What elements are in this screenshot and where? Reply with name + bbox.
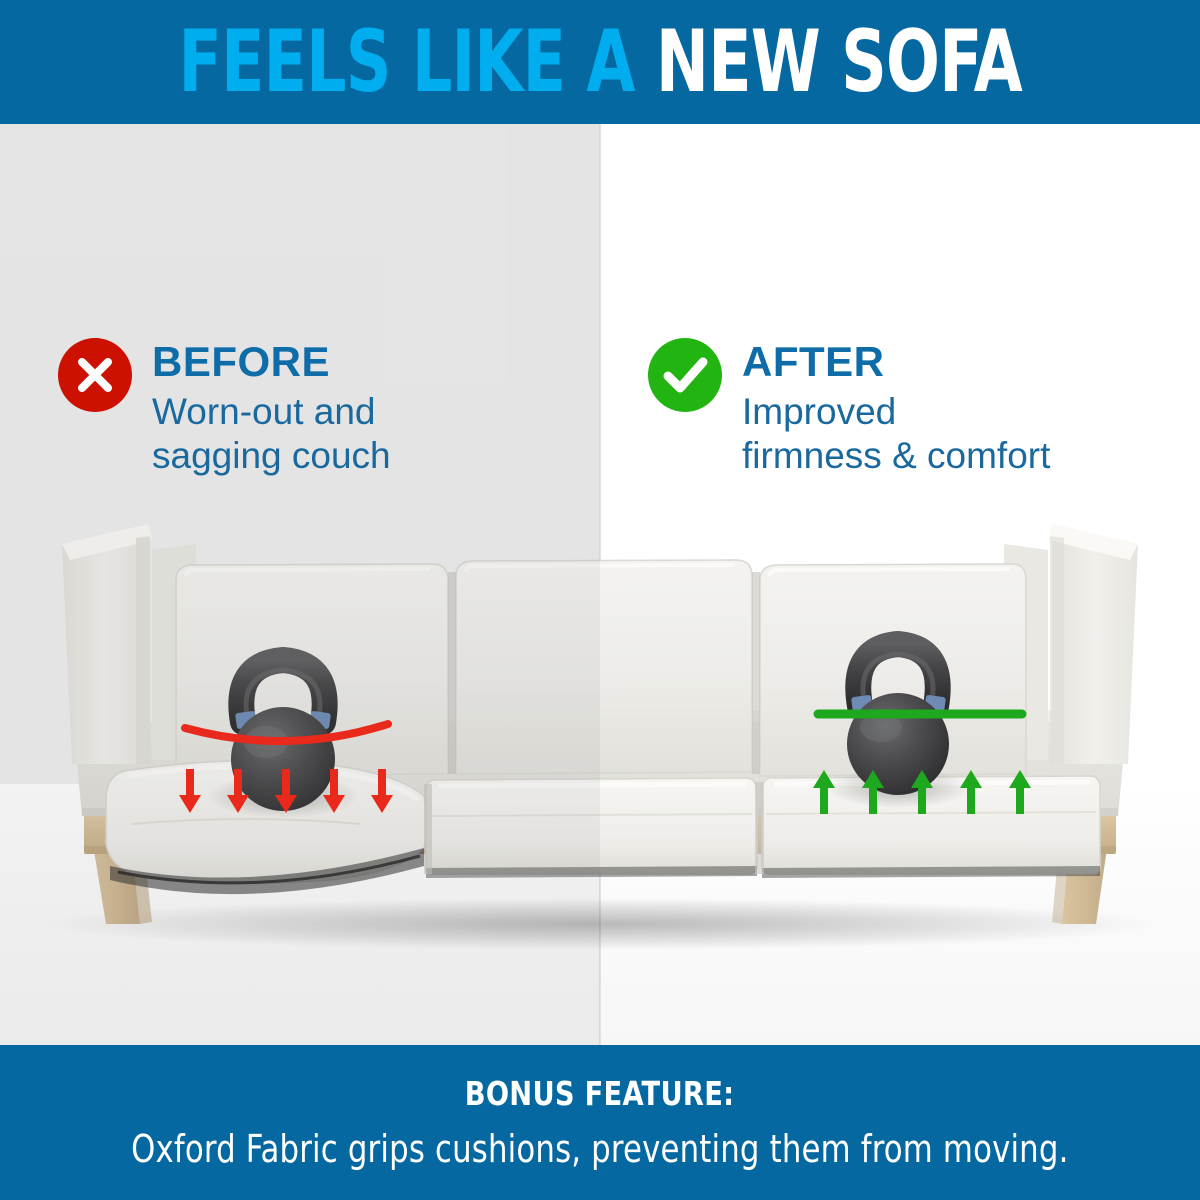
before-label-block: BEFORE Worn-out and sagging couch bbox=[58, 338, 391, 477]
page-title: FEELS LIKE A NEW SOFA bbox=[178, 19, 1021, 105]
before-heading: BEFORE bbox=[152, 340, 391, 384]
sofa-illustration bbox=[0, 124, 1200, 1045]
after-text-group: AFTER Improved firmness & comfort bbox=[742, 338, 1050, 477]
before-text-group: BEFORE Worn-out and sagging couch bbox=[152, 338, 391, 477]
after-heading: AFTER bbox=[742, 340, 1050, 384]
page-title-main: NEW SOFA bbox=[656, 12, 1022, 112]
bonus-feature-body: Oxford Fabric grips cushions, preventing… bbox=[131, 1127, 1068, 1171]
footer-banner: BONUS FEATURE: Oxford Fabric grips cushi… bbox=[0, 1045, 1200, 1200]
after-label-block: AFTER Improved firmness & comfort bbox=[648, 338, 1050, 477]
header-banner: FEELS LIKE A NEW SOFA bbox=[0, 0, 1200, 124]
after-description: Improved firmness & comfort bbox=[742, 390, 1050, 477]
x-circle-icon bbox=[58, 338, 132, 412]
before-description: Worn-out and sagging couch bbox=[152, 390, 391, 477]
page-title-accent: FEELS LIKE A bbox=[178, 12, 655, 112]
comparison-stage: BEFORE Worn-out and sagging couch AFTER … bbox=[0, 124, 1200, 1045]
check-circle-icon bbox=[648, 338, 722, 412]
bonus-feature-heading: BONUS FEATURE: bbox=[465, 1074, 735, 1113]
infographic-page: FEELS LIKE A NEW SOFA bbox=[0, 0, 1200, 1200]
